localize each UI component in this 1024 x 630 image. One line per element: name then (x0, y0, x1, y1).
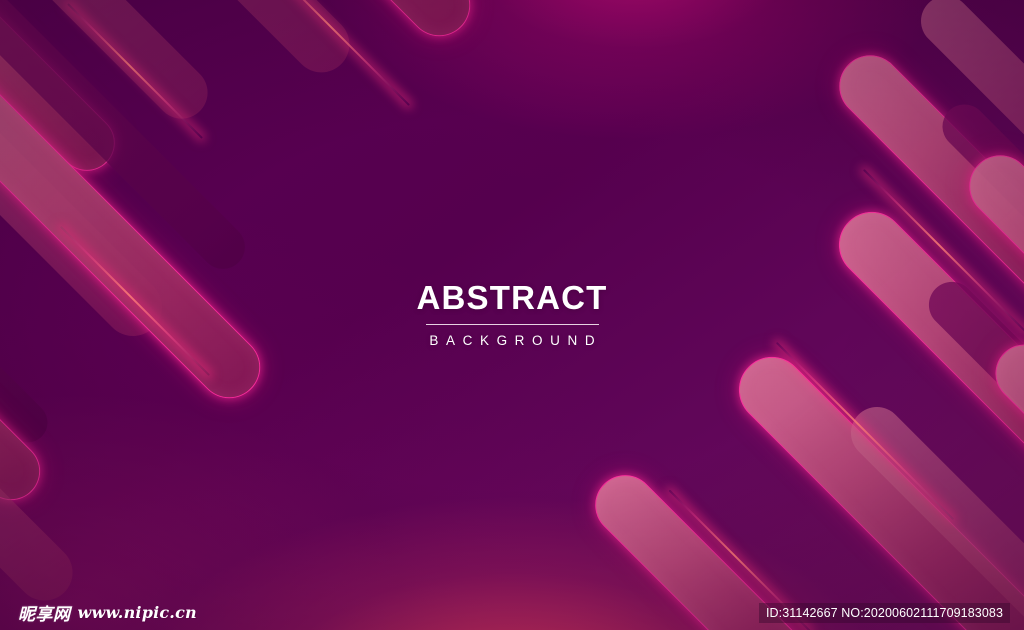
light-streak-group (0, 0, 1024, 630)
streak-br-a (863, 169, 1024, 333)
abstract-background-canvas: ABSTRACT BACKGROUND 昵享网 www.nipic.cn ID:… (0, 0, 1024, 630)
streak-tl-c (260, 0, 410, 106)
streak-tl-b (60, 226, 210, 376)
streak-br-b (776, 342, 954, 520)
streak-br-c (669, 490, 812, 630)
streak-tl-a (67, 3, 203, 139)
